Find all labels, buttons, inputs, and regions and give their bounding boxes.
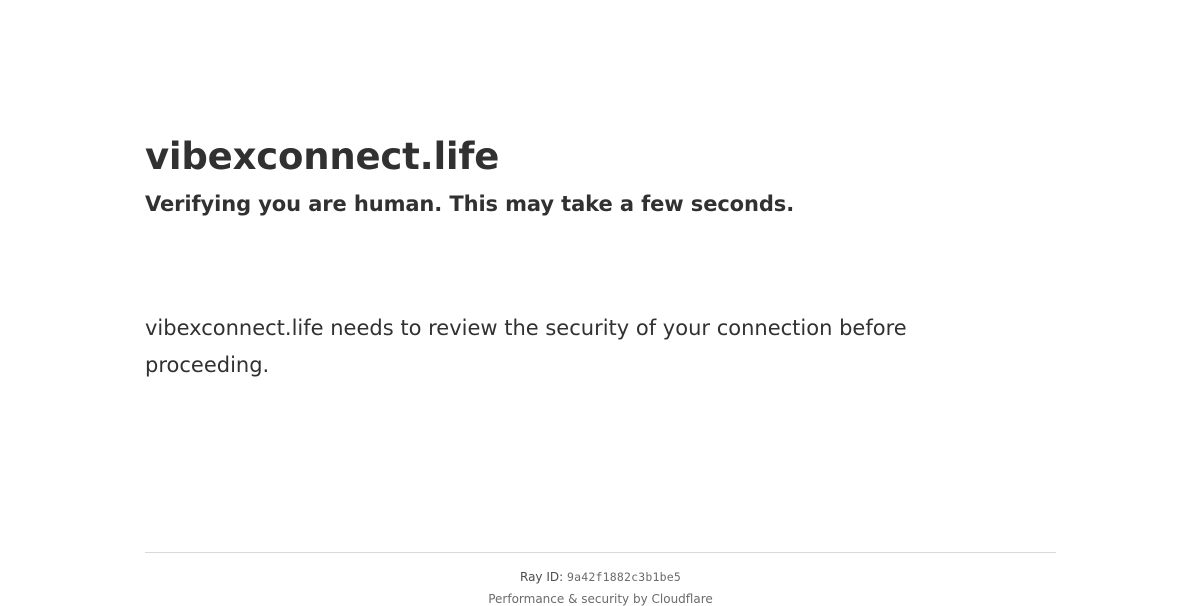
cloudflare-link[interactable]: Cloudflare bbox=[652, 592, 713, 606]
turnstile-widget-slot[interactable] bbox=[145, 218, 465, 310]
attribution-line: Performance & security by Cloudflare bbox=[145, 592, 1056, 606]
challenge-content: vibexconnect.life Verifying you are huma… bbox=[145, 0, 1056, 383]
page-footer: Ray ID: 9a42f1882c3b1be5 Performance & s… bbox=[145, 552, 1056, 606]
page-title: vibexconnect.life bbox=[145, 0, 1056, 179]
ray-id-line: Ray ID: 9a42f1882c3b1be5 bbox=[145, 570, 1056, 585]
ray-id-value: 9a42f1882c3b1be5 bbox=[567, 570, 681, 584]
attribution-prefix: Performance & security by bbox=[488, 592, 651, 606]
verification-status-text: Verifying you are human. This may take a… bbox=[145, 179, 1056, 218]
footer-content: Ray ID: 9a42f1882c3b1be5 Performance & s… bbox=[145, 553, 1056, 606]
challenge-description: vibexconnect.life needs to review the se… bbox=[145, 310, 945, 382]
challenge-page: vibexconnect.life Verifying you are huma… bbox=[0, 0, 1200, 600]
ray-id-label: Ray ID: bbox=[520, 570, 563, 584]
